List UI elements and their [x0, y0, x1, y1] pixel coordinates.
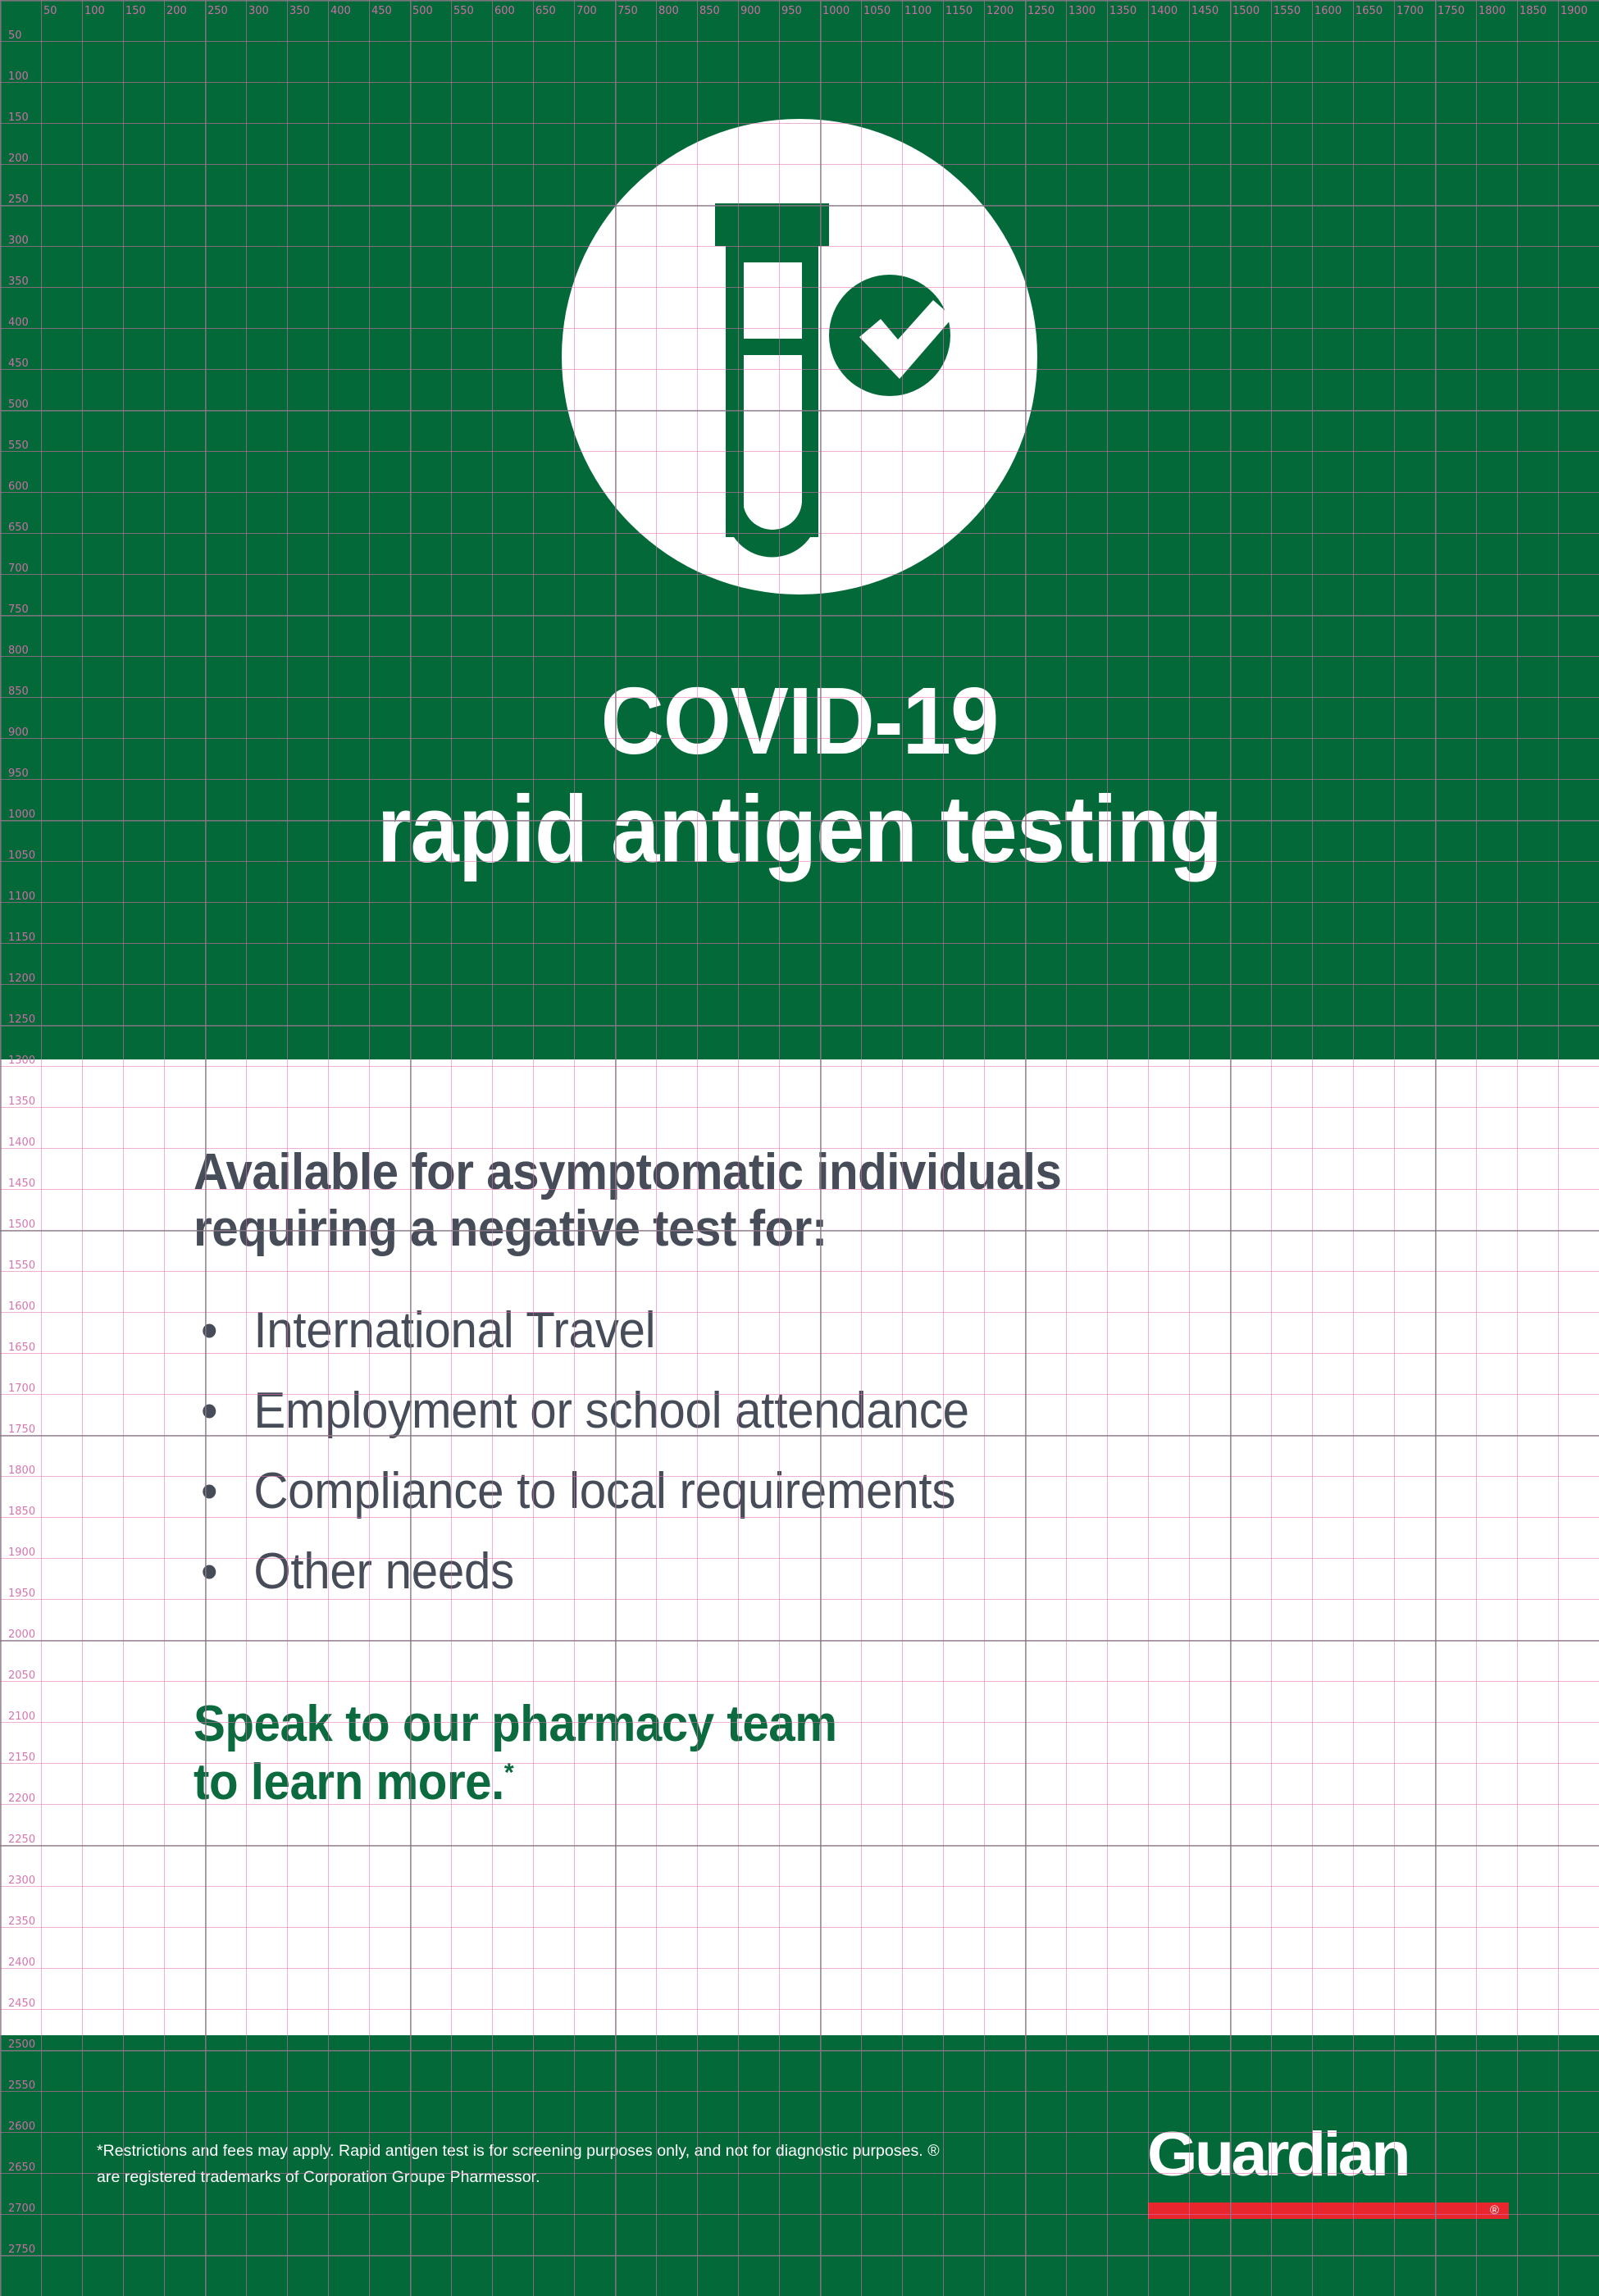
list-item: Compliance to local requirements [194, 1466, 1427, 1517]
test-tube-check-glyph [562, 119, 1037, 594]
bullet-dot-icon [203, 1323, 216, 1337]
bullet-dot-icon [203, 1484, 216, 1498]
title-line-1: COVID-19 [64, 672, 1535, 769]
guardian-wordmark: Guardian [1147, 2124, 1539, 2186]
list-item-label: Compliance to local requirements [253, 1463, 955, 1519]
list-item-label: International Travel [253, 1302, 655, 1359]
call-to-action: Speak to our pharmacy team to learn more… [194, 1696, 1427, 1811]
eligibility-list: International Travel Employment or schoo… [194, 1305, 1506, 1597]
test-tube-check-icon [562, 119, 1037, 594]
cta-line-1: Speak to our pharmacy team [194, 1696, 1427, 1754]
bullet-dot-icon [203, 1565, 216, 1578]
title-line-2: rapid antigen testing [64, 781, 1535, 877]
page-title: COVID-19 rapid antigen testing [64, 672, 1535, 878]
cta-line-2: to learn more.* [194, 1754, 1427, 1812]
list-item-label: Employment or school attendance [253, 1383, 968, 1439]
body-content: Available for asymptomatic individuals r… [194, 1144, 1506, 1811]
subheading: Available for asymptomatic individuals r… [194, 1144, 1427, 1258]
list-item: International Travel [194, 1305, 1427, 1356]
bullet-dot-icon [203, 1404, 216, 1418]
disclaimer-text: *Restrictions and fees may apply. Rapid … [97, 2139, 941, 2190]
list-item: Employment or school attendance [194, 1386, 1427, 1437]
poster-root: COVID-19 rapid antigen testing Available… [0, 0, 1599, 2296]
list-item-label: Other needs [253, 1543, 514, 1600]
guardian-logo: Guardian ® [1147, 2124, 1524, 2214]
logo-red-bar [1148, 2203, 1509, 2219]
cta-asterisk: * [504, 1757, 513, 1787]
cta-line-2-text: to learn more. [194, 1754, 504, 1811]
registered-trademark-icon: ® [1490, 2203, 1499, 2218]
list-item: Other needs [194, 1547, 1427, 1597]
